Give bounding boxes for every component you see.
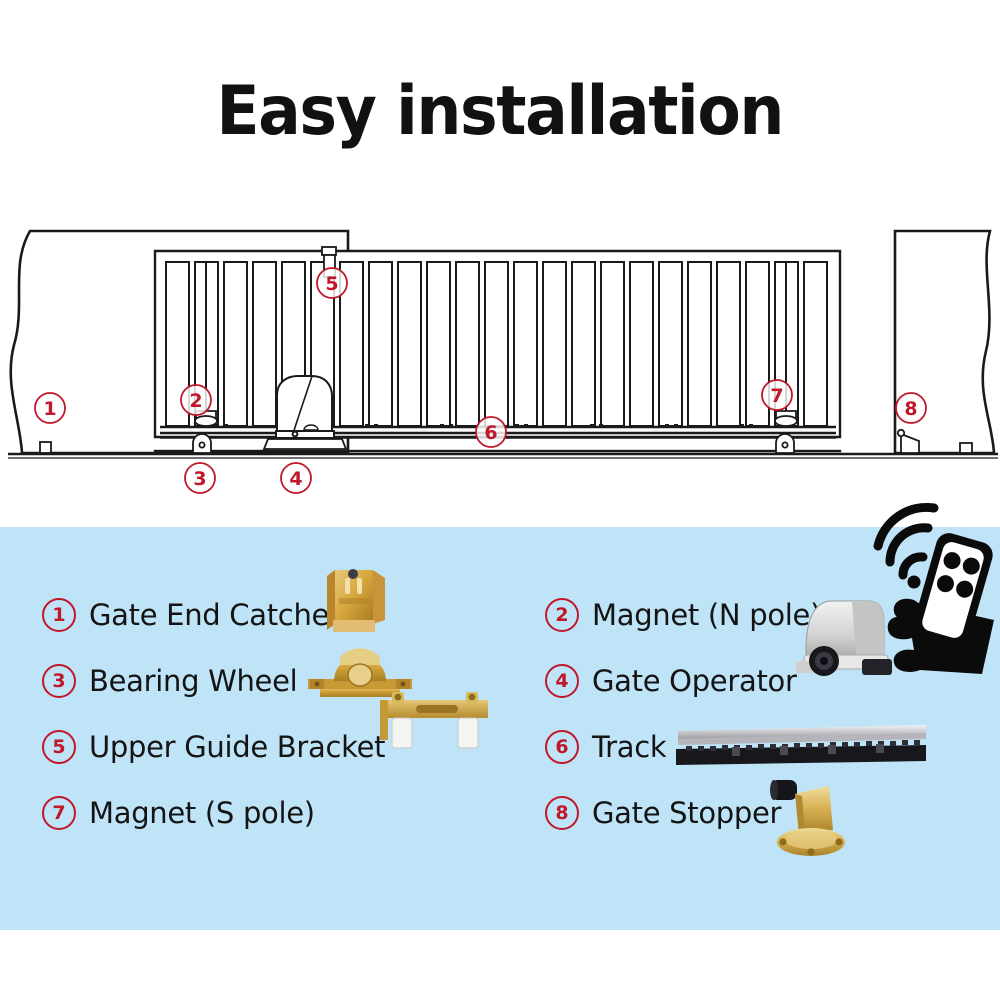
legend-badge-3: 3	[42, 664, 76, 698]
legend-badge-4: 4	[545, 664, 579, 698]
signal-dot	[908, 576, 921, 589]
legend-item-upper-guide-bracket: 5 Upper Guide Bracket	[42, 714, 512, 780]
legend-label-1: Gate End Catcher	[89, 598, 341, 632]
legend-badge-5: 5	[42, 730, 76, 764]
legend-badge-2: 2	[545, 598, 579, 632]
svg-text:6: 6	[484, 422, 497, 444]
callout-3: 3	[185, 463, 215, 493]
ground-line	[8, 454, 998, 458]
legend-label-7: Magnet (S pole)	[89, 796, 315, 830]
callout-6: 6	[476, 417, 506, 447]
svg-text:7: 7	[770, 385, 783, 407]
bearing-wheel-right	[776, 434, 794, 453]
legend-item-bearing-wheel: 3 Bearing Wheel	[42, 648, 512, 714]
bearing-wheel-left	[193, 434, 211, 453]
callout-5: 5	[317, 268, 347, 298]
callout-8: 8	[896, 393, 926, 423]
signal-arc-inner	[903, 557, 923, 575]
legend-label-3: Bearing Wheel	[89, 664, 297, 698]
legend-label-4: Gate Operator	[592, 664, 797, 698]
svg-text:2: 2	[189, 390, 202, 412]
legend-label-8: Gate Stopper	[592, 796, 781, 830]
svg-text:5: 5	[325, 273, 338, 295]
legend-left-column: 1 Gate End Catcher 3 Bearing Wheel 5 Upp…	[42, 582, 512, 846]
callout-7: 7	[762, 380, 792, 410]
legend-item-gate-end-catcher: 1 Gate End Catcher	[42, 582, 512, 648]
installation-diagram: 1 2 3 4 5	[0, 205, 1000, 505]
legend-badge-7: 7	[42, 796, 76, 830]
gate-end-catcher-marker	[40, 442, 51, 453]
legend-panel: 1 Gate End Catcher 3 Bearing Wheel 5 Upp…	[0, 527, 1000, 930]
svg-text:1: 1	[43, 398, 56, 420]
legend-label-6: Track	[592, 730, 666, 764]
svg-text:8: 8	[904, 398, 917, 420]
callout-1: 1	[35, 393, 65, 423]
legend-item-gate-stopper: 8 Gate Stopper	[545, 780, 965, 846]
page-title: Easy installation	[217, 78, 784, 146]
legend-badge-6: 6	[545, 730, 579, 764]
callout-4: 4	[281, 463, 311, 493]
legend-badge-1: 1	[42, 598, 76, 632]
legend-label-5: Upper Guide Bracket	[89, 730, 385, 764]
legend-badge-8: 8	[545, 796, 579, 830]
callout-2: 2	[181, 385, 211, 415]
page-root: Easy installation	[0, 0, 1000, 1000]
legend-item-track: 6 Track	[545, 714, 965, 780]
svg-text:3: 3	[193, 468, 206, 490]
legend-label-2: Magnet (N pole)	[592, 598, 821, 632]
legend-item-magnet-s-pole: 7 Magnet (S pole)	[42, 780, 512, 846]
svg-text:4: 4	[289, 468, 302, 490]
title-section: Easy installation	[0, 78, 1000, 146]
gate-bars	[166, 262, 827, 426]
gate-operator	[276, 376, 334, 438]
gate-operator-base	[264, 439, 346, 449]
hand-holding-remote-icon	[862, 500, 1000, 675]
